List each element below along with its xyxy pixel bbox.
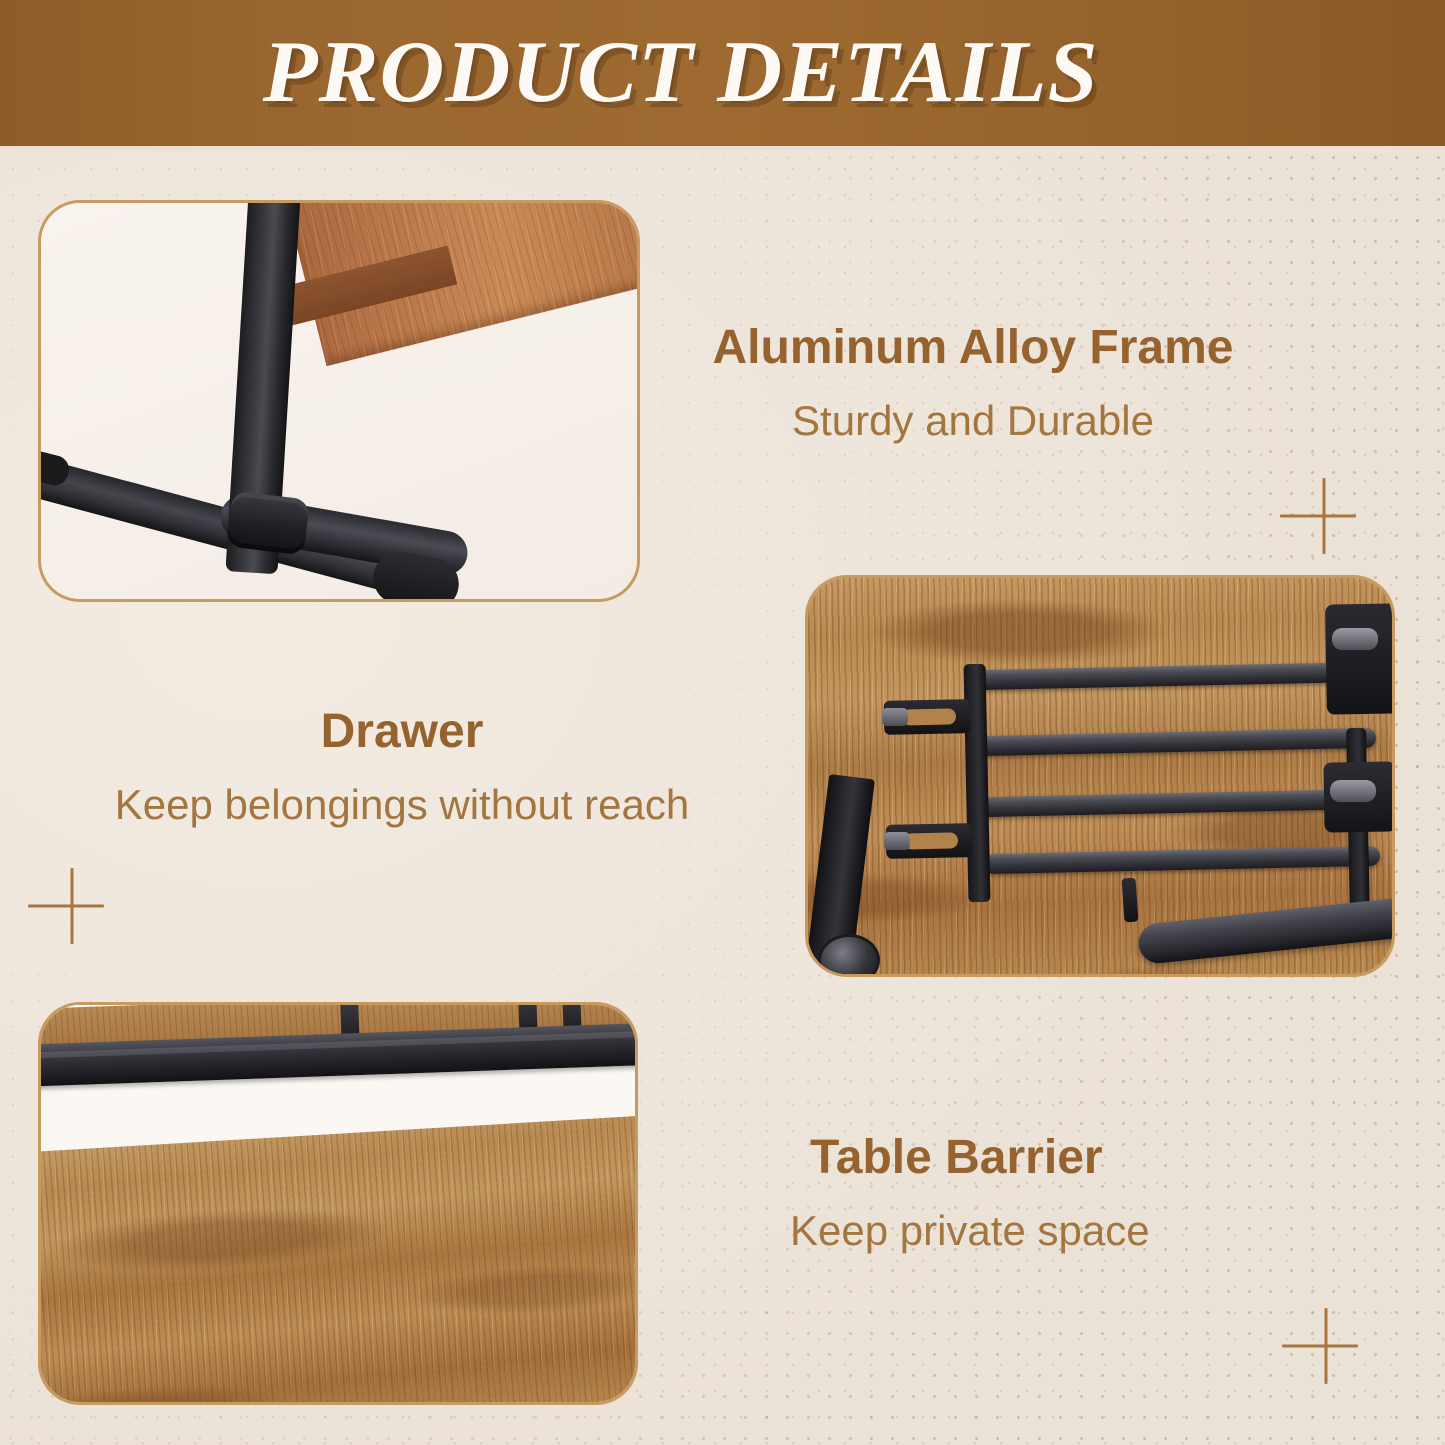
wood-tabletop-surface	[41, 1113, 635, 1402]
feature-subtitle-drawer: Keep belongings without reach	[92, 781, 712, 829]
leg-joint-collar	[226, 490, 310, 555]
feature-text-aluminum-alloy-frame: Aluminum Alloy Frame Sturdy and Durable	[688, 322, 1258, 445]
feature-title-drawer: Drawer	[92, 706, 712, 759]
page-title: PRODUCT DETAILS	[263, 29, 1099, 117]
feature-image-inner-drawer	[808, 578, 1392, 974]
rail-end-block-top	[1325, 603, 1392, 714]
feature-image-table-barrier	[38, 1002, 638, 1405]
feature-title-aluminum-alloy-frame: Aluminum Alloy Frame	[688, 322, 1258, 375]
header-underline	[0, 146, 1445, 153]
drawer-pin-bottom	[884, 832, 910, 850]
cross-decoration-icon	[28, 868, 104, 944]
rail-end-pin-top	[1332, 628, 1378, 650]
feature-subtitle-table-barrier: Keep private space	[790, 1207, 1372, 1255]
cross-decoration-icon	[1280, 478, 1356, 554]
rail-end-pin-bottom	[1330, 780, 1376, 802]
feature-title-table-barrier: Table Barrier	[810, 1132, 1372, 1185]
feature-subtitle-aluminum-alloy-frame: Sturdy and Durable	[688, 397, 1258, 445]
cross-decoration-icon	[1282, 1308, 1358, 1384]
header-banner: PRODUCT DETAILS	[0, 0, 1445, 146]
feature-image-drawer	[805, 575, 1395, 977]
feature-text-drawer: Drawer Keep belongings without reach	[92, 706, 712, 829]
feature-image-aluminum-alloy-frame	[38, 200, 640, 602]
feature-image-inner-barrier	[41, 1005, 635, 1402]
feature-text-table-barrier: Table Barrier Keep private space	[772, 1132, 1372, 1255]
frame-clip	[1121, 878, 1138, 923]
product-details-infographic: PRODUCT DETAILS	[0, 0, 1445, 1445]
feature-image-inner-frame	[41, 203, 637, 599]
drawer-pin-top	[882, 708, 908, 726]
